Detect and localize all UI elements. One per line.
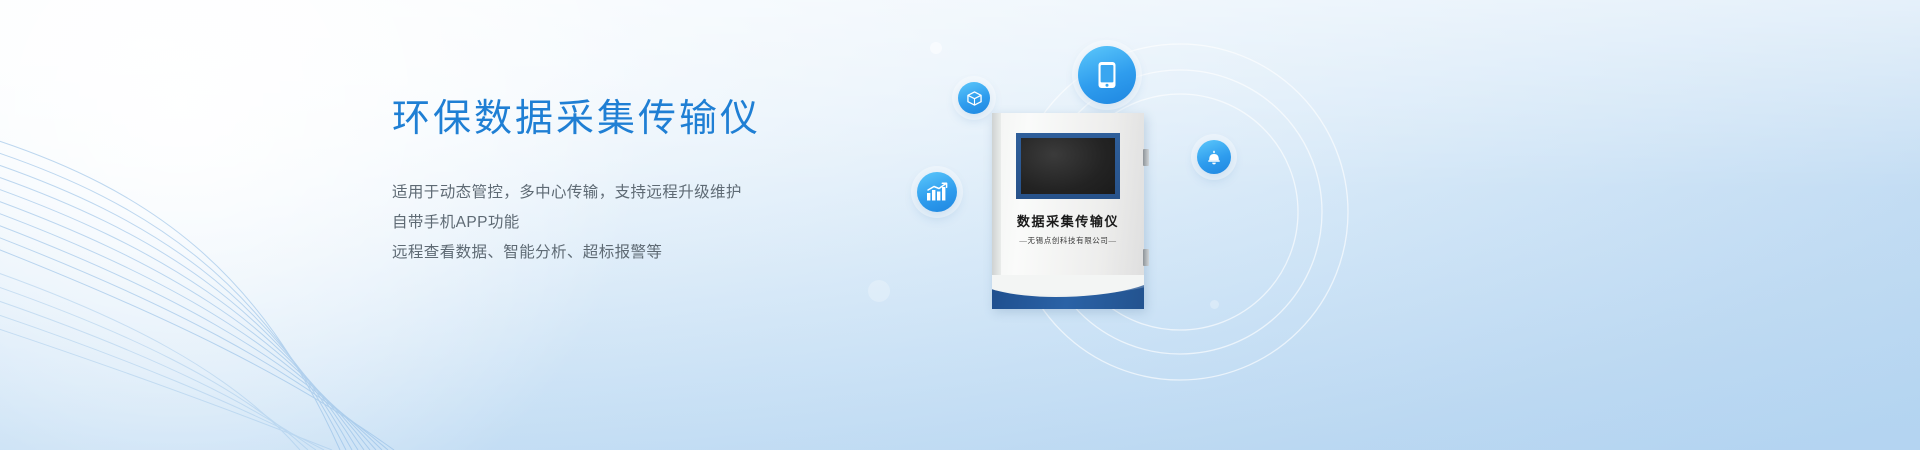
product-hero-banner: 环保数据采集传输仪 适用于动态管控，多中心传输，支持远程升级维护 自带手机APP… (0, 0, 1920, 450)
banner-subtitle-line-3: 远程查看数据、智能分析、超标报警等 (392, 238, 912, 268)
banner-copy: 环保数据采集传输仪 适用于动态管控，多中心传输，支持远程升级维护 自带手机APP… (392, 96, 912, 268)
device-base-panel (992, 275, 1144, 309)
package-box-icon (967, 91, 982, 106)
decorative-dot-1 (930, 42, 942, 54)
feature-bubble-box[interactable] (958, 82, 990, 114)
bar-chart-growth-icon (926, 182, 948, 202)
banner-subtitle-group: 适用于动态管控，多中心传输，支持远程升级维护 自带手机APP功能 远程查看数据、… (392, 178, 912, 268)
device-screen-bezel (1016, 133, 1120, 199)
banner-title: 环保数据采集传输仪 (392, 96, 912, 144)
banner-subtitle-line-1: 适用于动态管控，多中心传输，支持远程升级维护 (392, 178, 912, 208)
device-label: 数据采集传输仪 —无锡点创科技有限公司— (992, 211, 1144, 246)
device-screen (1021, 138, 1115, 194)
decorative-arc-rings (880, 0, 1440, 450)
device-hinge-top (1143, 149, 1149, 166)
feature-bubble-alarm[interactable] (1197, 140, 1231, 174)
device-label-company: —无锡点创科技有限公司— (992, 235, 1144, 246)
alarm-bell-icon (1206, 149, 1222, 165)
feature-bubble-chart[interactable] (917, 172, 957, 212)
product-composition: 数据采集传输仪 —无锡点创科技有限公司— (880, 0, 1440, 450)
product-device-cabinet: 数据采集传输仪 —无锡点创科技有限公司— (992, 113, 1144, 309)
banner-subtitle-line-2: 自带手机APP功能 (392, 208, 912, 238)
feature-bubble-phone[interactable] (1078, 46, 1136, 104)
decorative-dot-2 (868, 280, 890, 302)
mobile-phone-icon (1097, 61, 1117, 89)
device-hinge-bottom (1143, 249, 1149, 266)
device-label-title: 数据采集传输仪 (992, 211, 1144, 230)
decorative-dot-3 (1210, 300, 1219, 309)
